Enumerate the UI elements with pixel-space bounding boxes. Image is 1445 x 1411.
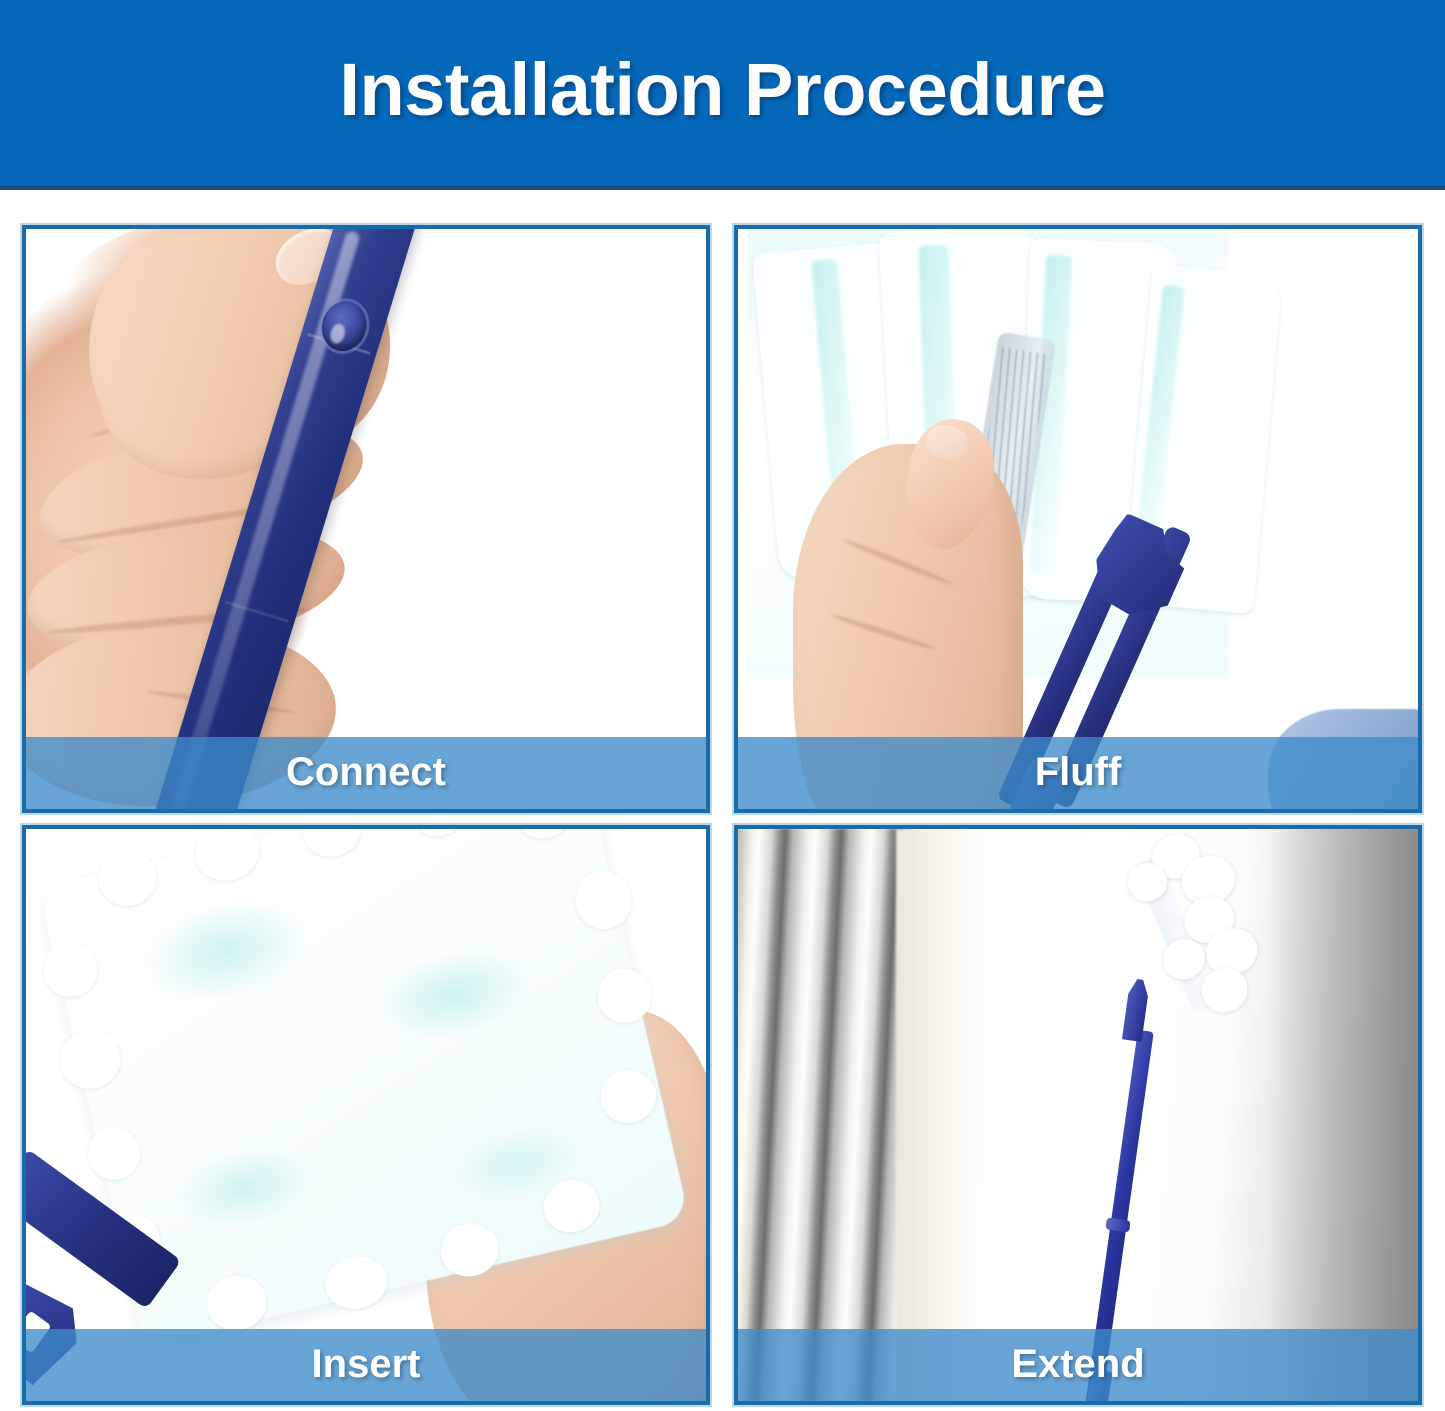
caption-bar-insert: Insert bbox=[26, 1329, 706, 1401]
caption-label: Extend bbox=[1011, 1344, 1144, 1387]
caption-bar-connect: Connect bbox=[26, 737, 706, 809]
extended-pole-icon bbox=[738, 829, 1418, 1401]
steps-grid: Connect bbox=[22, 225, 1422, 1405]
duster-head-insert-icon bbox=[26, 829, 706, 1401]
step-panel-connect[interactable]: Connect bbox=[22, 225, 710, 813]
hand-holding-handle-icon bbox=[26, 229, 706, 809]
caption-label: Fluff bbox=[1035, 752, 1122, 795]
page-title: Installation Procedure bbox=[339, 53, 1105, 133]
caption-bar-fluff: Fluff bbox=[738, 737, 1418, 809]
step-panel-insert[interactable]: Insert bbox=[22, 825, 710, 1405]
page-header: Installation Procedure bbox=[0, 0, 1445, 186]
step-panel-fluff[interactable]: Fluff bbox=[734, 225, 1422, 813]
caption-label: Insert bbox=[312, 1344, 421, 1387]
header-divider bbox=[0, 186, 1445, 190]
caption-label: Connect bbox=[286, 752, 446, 795]
caption-bar-extend: Extend bbox=[738, 1329, 1418, 1401]
hand-fluffing-refill-icon bbox=[738, 229, 1418, 809]
step-panel-extend[interactable]: Extend bbox=[734, 825, 1422, 1405]
